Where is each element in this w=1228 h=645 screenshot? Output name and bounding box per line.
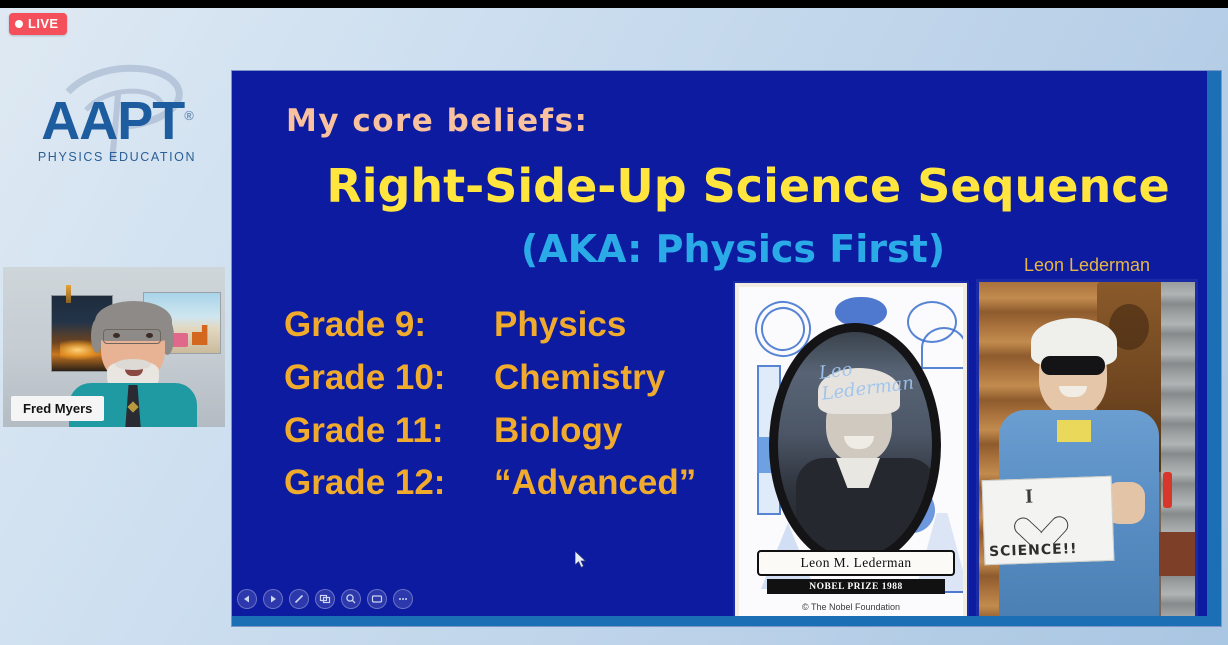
aapt-letters: AAPT (41, 91, 184, 151)
zoom-tool-button[interactable] (341, 589, 361, 609)
lederman-photo: I SCIENCE!! (976, 279, 1198, 620)
sign-science-text: SCIENCE!! (989, 541, 1078, 560)
subject-label: Chemistry (494, 360, 754, 397)
nobel-card-artwork: Leo Lederman Leon M. Lederman NOBEL PRIZ… (739, 287, 963, 618)
registered-mark: ® (184, 108, 193, 123)
meeting-stage: LIVE AAPT® PHYSICS EDUCATION Fred Myers (0, 0, 1228, 645)
mustache (115, 359, 151, 370)
science-sequence-list: Grade 9: Physics Grade 10: Chemistry Gra… (284, 307, 754, 518)
display-settings-button[interactable] (367, 589, 387, 609)
red-tool (1163, 472, 1172, 508)
live-dot-icon (15, 20, 23, 28)
all-slides-button[interactable] (315, 589, 335, 609)
grade-label: Grade 12: (284, 465, 494, 502)
beach-chair-icon (192, 325, 214, 345)
live-label: LIVE (28, 16, 59, 31)
top-letterbox-bar (0, 0, 1228, 8)
yellow-undershirt (1057, 420, 1091, 442)
triangle-right-icon (268, 594, 278, 604)
handheld-sign: I SCIENCE!! (982, 476, 1115, 565)
next-slide-button[interactable] (263, 589, 283, 609)
aapt-wordmark: AAPT® (22, 94, 212, 148)
eye-left (113, 333, 120, 338)
participant-name-label: Fred Myers (11, 396, 104, 421)
slide-right-band (1207, 71, 1221, 626)
grade-label: Grade 10: (284, 360, 494, 397)
grade-label: Grade 9: (284, 307, 494, 344)
list-item: Grade 10: Chemistry (284, 360, 754, 397)
live-badge: LIVE (9, 13, 67, 35)
ellipsis-icon (397, 593, 409, 605)
heart-icon (1023, 505, 1056, 534)
list-item: Grade 12: “Advanced” (284, 465, 754, 502)
nobel-credit: © The Nobel Foundation (739, 602, 963, 612)
aapt-tagline: PHYSICS EDUCATION (22, 150, 212, 164)
presentation-toolbar[interactable] (237, 589, 413, 609)
grade-label: Grade 11: (284, 413, 494, 450)
pen-icon (293, 593, 305, 605)
tie-pattern (127, 401, 138, 412)
previous-slide-button[interactable] (237, 589, 257, 609)
monitor-icon (371, 593, 383, 605)
slide-title: Right-Side-Up Science Sequence (308, 159, 1188, 213)
triangle-left-icon (242, 594, 252, 604)
list-item: Grade 11: Biology (284, 413, 754, 450)
participant-video-tile[interactable]: Fred Myers (3, 267, 225, 427)
subject-label: Biology (494, 413, 754, 450)
more-options-button[interactable] (393, 589, 413, 609)
mouse-cursor-icon (575, 551, 588, 570)
portrait-oval: Leo Lederman (769, 323, 941, 567)
nobel-card-image: Leo Lederman Leon M. Lederman NOBEL PRIZ… (733, 281, 969, 624)
slides-grid-icon (319, 593, 331, 605)
slide-bottom-band (232, 616, 1221, 626)
nobel-prize-banner: NOBEL PRIZE 1988 (767, 579, 945, 594)
sunglasses-icon (1041, 356, 1105, 375)
pen-tool-button[interactable] (289, 589, 309, 609)
photo-caption: Leon Lederman (972, 255, 1202, 276)
slide-eyebrow: My core beliefs: (286, 103, 588, 139)
shared-slide[interactable]: My core beliefs: Right-Side-Up Science S… (231, 70, 1222, 627)
aapt-logo: AAPT® PHYSICS EDUCATION (22, 72, 212, 164)
beach-chair-pink-icon (172, 333, 188, 347)
list-item: Grade 9: Physics (284, 307, 754, 344)
magnifier-icon (345, 593, 357, 605)
nobel-name-plate: Leon M. Lederman (757, 550, 955, 576)
planter-box (1159, 532, 1198, 576)
subject-label: Physics (494, 307, 754, 344)
eye-right (146, 333, 153, 338)
subject-label: “Advanced” (494, 465, 754, 502)
